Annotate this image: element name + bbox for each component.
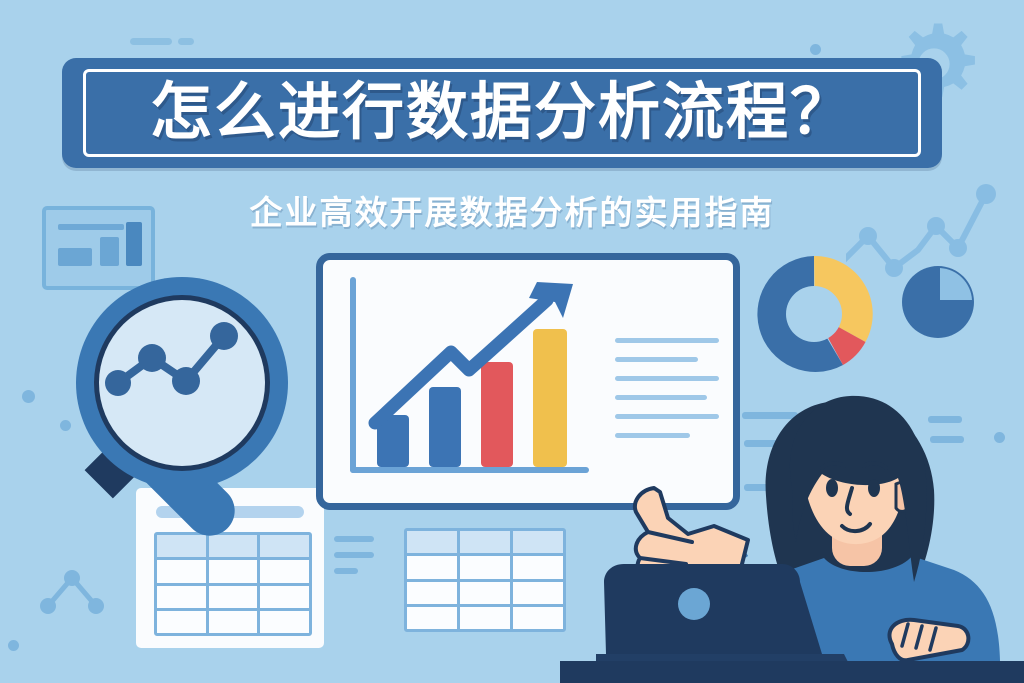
- pie-chart-icon: [898, 262, 978, 342]
- table-cell: [513, 556, 563, 578]
- table-cell: [157, 611, 206, 633]
- table-cell: [513, 582, 563, 604]
- infographic-canvas: 怎么进行数据分析流程？ 企业高效开展数据分析的实用指南: [0, 0, 1024, 683]
- whiteboard-bar-chart: [341, 274, 591, 484]
- table-cell: [460, 582, 510, 604]
- table-cell: [209, 586, 258, 608]
- decor-node-graph: [36, 564, 108, 616]
- table-cell: [407, 531, 457, 553]
- table-cell: [407, 607, 457, 629]
- decor-dot: [8, 640, 19, 651]
- text-line: [334, 568, 358, 574]
- table-cell: [407, 582, 457, 604]
- table-cell: [260, 611, 309, 633]
- table-cell: [157, 586, 206, 608]
- decor-text-lines: [334, 536, 374, 584]
- decor-dot: [810, 44, 821, 55]
- text-line: [334, 536, 374, 542]
- table-cell: [209, 611, 258, 633]
- table-icon: [154, 532, 312, 636]
- text-line: [334, 552, 374, 558]
- table-cell: [260, 560, 309, 582]
- decor-dot: [22, 390, 35, 403]
- table-cell: [513, 607, 563, 629]
- table-cell: [460, 531, 510, 553]
- page-title: 怎么进行数据分析流程？: [150, 82, 854, 144]
- table-cell: [209, 560, 258, 582]
- table-cell: [260, 586, 309, 608]
- table-cell: [513, 531, 563, 553]
- donut-chart-icon: [752, 252, 876, 376]
- page-subtitle: 企业高效开展数据分析的实用指南: [0, 186, 1024, 234]
- decor-dash: [130, 38, 172, 45]
- table-cell: [407, 556, 457, 578]
- magnifier-icon: [56, 252, 306, 542]
- decor-dash: [178, 38, 194, 45]
- table-cell: [157, 560, 206, 582]
- text-line: [615, 338, 719, 343]
- title-frame: 怎么进行数据分析流程？: [83, 69, 921, 157]
- table-icon: [404, 528, 566, 632]
- text-line: [615, 376, 719, 381]
- title-banner: 怎么进行数据分析流程？: [62, 58, 942, 168]
- table-cell: [460, 607, 510, 629]
- table-cell: [460, 556, 510, 578]
- person-illustration: [596, 392, 1024, 683]
- text-line: [615, 357, 698, 362]
- desk-surface: [560, 661, 1024, 683]
